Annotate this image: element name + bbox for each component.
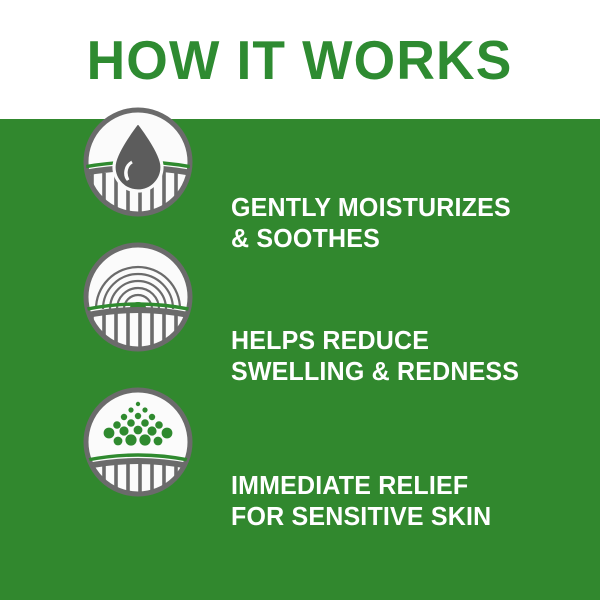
benefit-text-2: HELPS REDUCE SWELLING & REDNESS [231,326,519,388]
benefit-line: FOR SENSITIVE SKIN [231,502,491,533]
how-it-works-infographic: HOW IT WORKS [0,0,600,600]
benefit-line: & SOOTHES [231,224,511,255]
droplet-skin-icon [80,104,196,220]
benefits-panel: GENTLY MOISTURIZES & SOOTHES [0,119,600,600]
swelling-waves-icon [80,239,196,355]
benefit-line: HELPS REDUCE [231,326,519,357]
benefit-text-1: GENTLY MOISTURIZES & SOOTHES [231,193,511,255]
bubbles-skin-icon [80,384,196,500]
benefit-line: GENTLY MOISTURIZES [231,193,511,224]
benefit-line: IMMEDIATE RELIEF [231,471,491,502]
page-title: HOW IT WORKS [87,33,513,88]
benefit-line: SWELLING & REDNESS [231,357,519,388]
header-band: HOW IT WORKS [0,0,600,119]
benefit-text-3: IMMEDIATE RELIEF FOR SENSITIVE SKIN [231,471,491,533]
